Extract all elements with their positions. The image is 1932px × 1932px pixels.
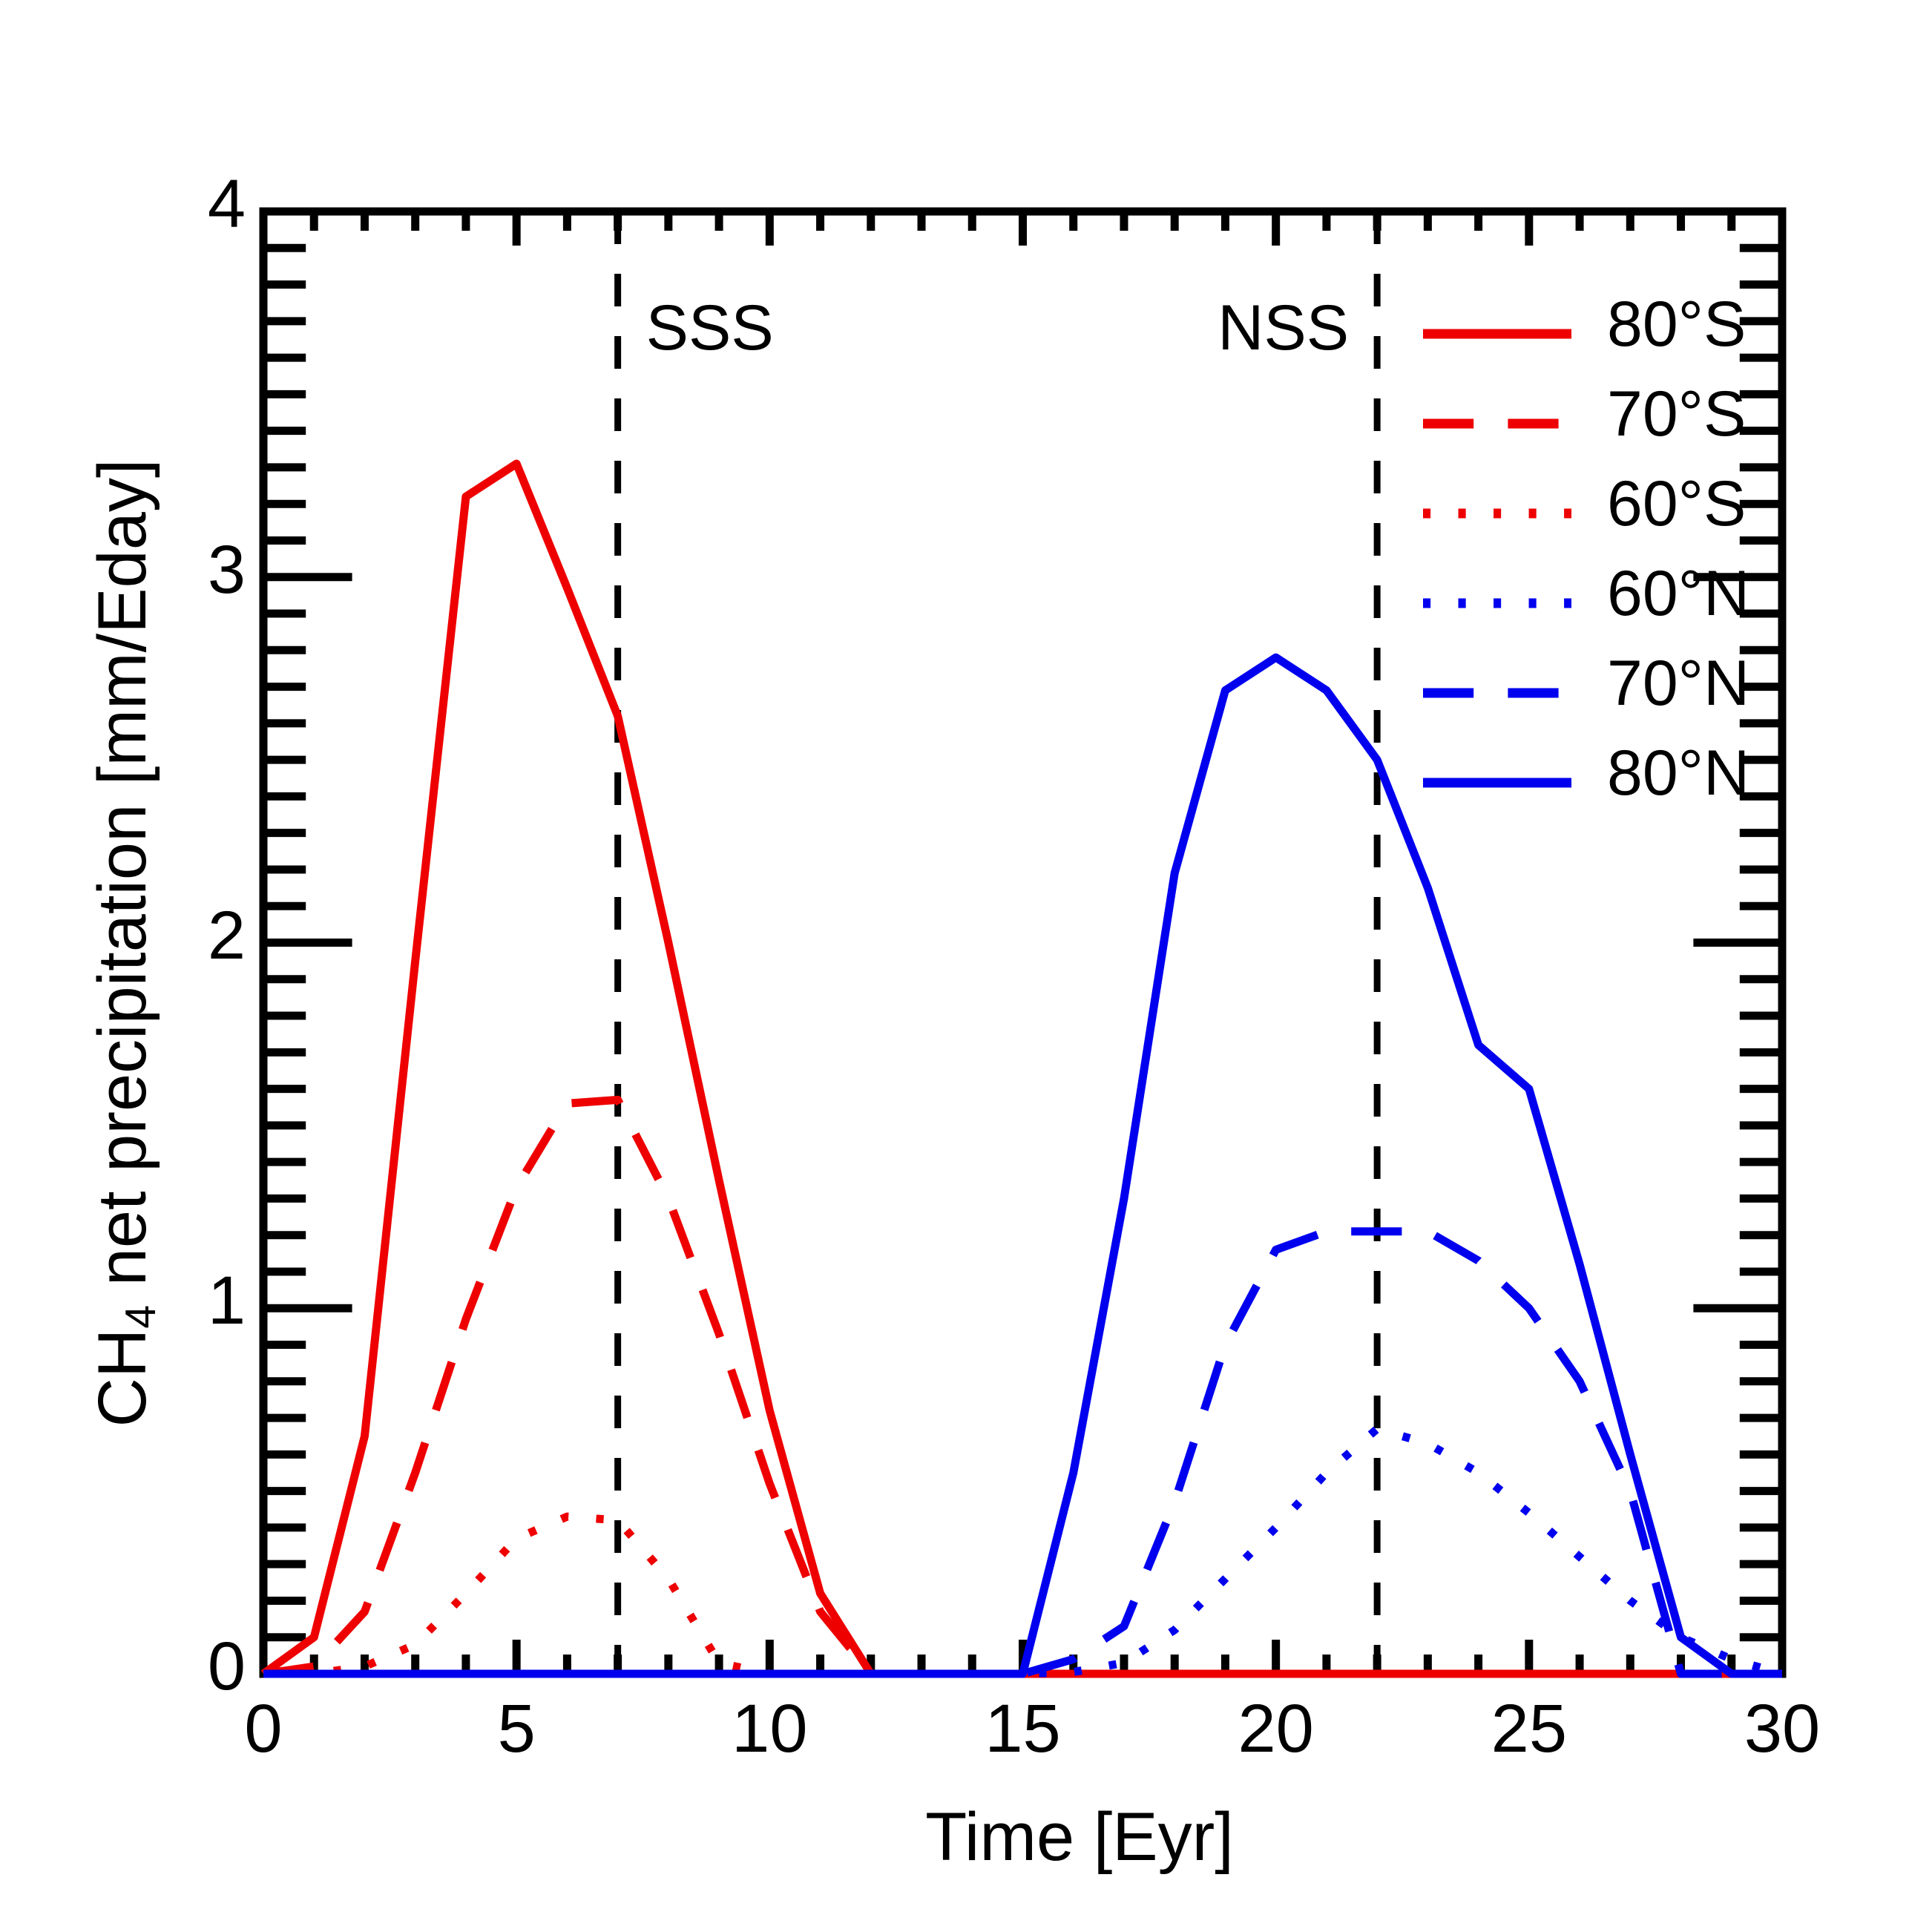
annotation-label-sss: SSS — [646, 292, 774, 365]
y-tick-label: 2 — [164, 897, 246, 975]
x-tick-label: 30 — [1701, 1690, 1864, 1768]
y-tick-label: 4 — [164, 165, 246, 243]
y-axis-title-subscript: 4 — [117, 1304, 165, 1328]
y-axis-title: CH4 net precipitation [mm/Eday] — [84, 459, 165, 1427]
y-tick-label: 1 — [164, 1262, 246, 1340]
legend-label-70s: 70°S — [1607, 378, 1746, 451]
x-tick-label: 15 — [942, 1690, 1105, 1768]
y-tick-label: 3 — [164, 531, 246, 609]
x-tick-label: 25 — [1448, 1690, 1611, 1768]
legend-label-60n: 60°N — [1607, 557, 1749, 631]
series-line-60n — [263, 1429, 1782, 1674]
y-tick-label: 0 — [164, 1628, 246, 1706]
legend-label-80s: 80°S — [1607, 288, 1746, 361]
legend-label-80n: 80°N — [1607, 737, 1749, 810]
y-axis-title-prefix: CH — [85, 1328, 160, 1427]
series-line-80s — [263, 464, 1782, 1674]
annotation-label-nss: NSS — [1218, 292, 1349, 365]
y-axis-title-suffix: net precipitation [mm/Eday] — [85, 459, 160, 1304]
plot-frame — [263, 211, 1782, 1674]
x-tick-label: 20 — [1195, 1690, 1358, 1768]
x-tick-label: 10 — [688, 1690, 851, 1768]
legend-label-70n: 70°N — [1607, 647, 1749, 720]
legend-label-60s: 60°S — [1607, 467, 1746, 541]
chart-figure: 05101520253001234Time [Eyr]CH4 net preci… — [0, 0, 1932, 1932]
x-axis-title: Time [Eyr] — [0, 1798, 1932, 1876]
series-line-80n — [263, 657, 1782, 1674]
x-tick-label: 5 — [435, 1690, 598, 1768]
series-line-70n — [263, 1232, 1782, 1674]
